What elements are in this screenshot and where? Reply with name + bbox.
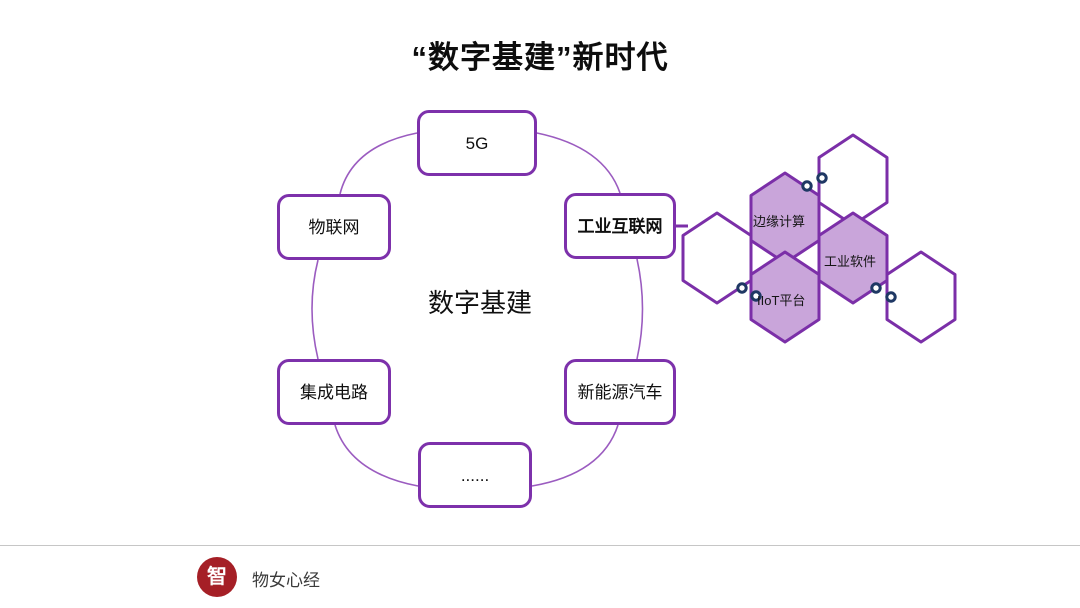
hex-marker-5 [872,284,880,292]
brand-logo-glyph: 智 [207,567,227,587]
diagram-canvas: 5G 工业互联网 新能源汽车 ...... 集成电路 物联网 数字基建 边缘计算… [0,0,1080,545]
cycle-arc-2 [537,133,620,193]
cycle-node-industrial-internet[interactable]: 工业互联网 [564,193,676,259]
cycle-node-ellipsis[interactable]: ...... [418,442,532,508]
diagram-vector-layer [0,0,1080,545]
hex-marker-2 [818,174,826,182]
cycle-node-label: 集成电路 [300,384,368,401]
hex-marker-3 [738,284,746,292]
brand-logo-icon: 智 [197,557,237,597]
hex-empty-bottomright [887,252,955,342]
cycle-node-label: ...... [461,467,489,484]
cycle-node-label: 5G [466,135,489,152]
cycle-node-label: 工业互联网 [578,218,663,235]
hex-marker-6 [887,293,895,301]
cycle-node-5g[interactable]: 5G [417,110,537,176]
cycle-node-label: 新能源汽车 [578,384,663,401]
cycle-node-label: 物联网 [309,219,360,236]
cycle-arc-1 [340,133,417,194]
hex-marker-1 [803,182,811,190]
hex-marker-4 [752,292,760,300]
cycle-node-iot[interactable]: 物联网 [277,194,391,260]
cycle-node-integrated-circuit[interactable]: 集成电路 [277,359,391,425]
cycle-arc-4 [532,425,618,486]
cycle-center-label: 数字基建 [380,283,580,320]
cycle-arc-5 [335,425,418,486]
footer-bar [0,546,1080,608]
cycle-arc-6 [312,260,318,359]
cycle-node-new-energy-vehicle[interactable]: 新能源汽车 [564,359,676,425]
cycle-arc-3 [637,259,643,359]
brand-name-label: 物女心经 [252,566,320,591]
